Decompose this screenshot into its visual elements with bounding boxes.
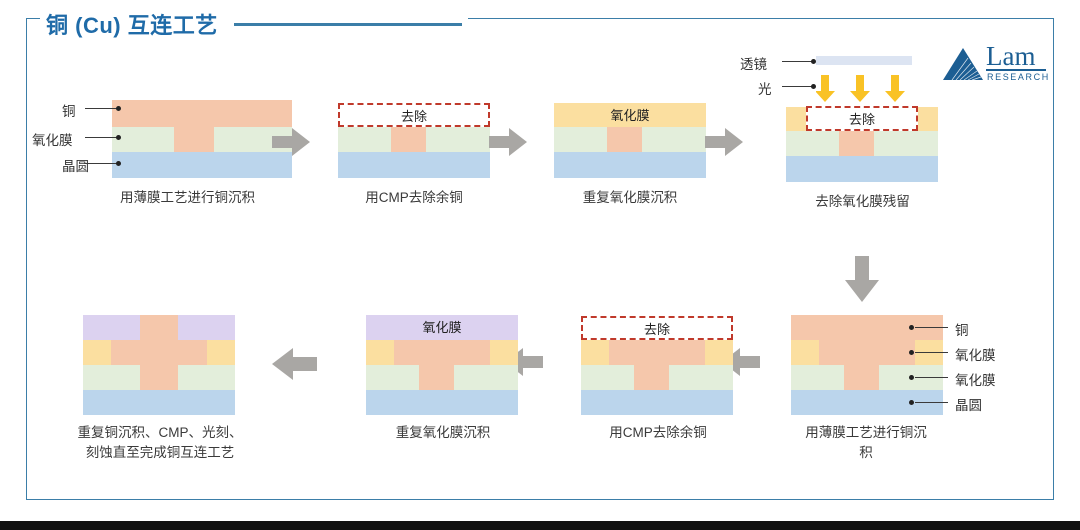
layer-oxide-green-left — [791, 365, 844, 390]
callout-line-wafer — [915, 402, 948, 403]
step-5-cu-deposition-2: 铜 氧化膜 氧化膜 晶圆 用薄膜工艺进行铜沉 积 — [775, 305, 1045, 475]
callout-dot-wafer — [116, 161, 121, 166]
step-2-stack — [338, 127, 490, 178]
step-8-caption: 重复铜沉积、CMP、光刻、 刻蚀直至完成铜互连工艺 — [51, 423, 269, 462]
layer-oxide-right — [426, 127, 490, 152]
layer-wafer — [112, 152, 292, 178]
layer-oxide-yellow-left — [581, 340, 609, 365]
bottom-black-bar — [0, 521, 1080, 530]
light-callout-line — [782, 86, 813, 87]
layer-copper-trench — [609, 340, 705, 365]
layer-oxide-yellow: 氧化膜 — [554, 103, 706, 127]
remove-region-box: 去除 — [581, 316, 733, 340]
layer-oxide-right — [642, 127, 706, 152]
layer-oxide-yellow-right — [207, 340, 235, 365]
layer-label-oxide: 氧化膜 — [554, 109, 706, 122]
callout-line-copper — [85, 108, 118, 109]
lens-bar — [816, 56, 912, 65]
layer-copper-via-top — [140, 315, 178, 340]
layer-oxide-purple-left — [83, 315, 140, 340]
layer-oxide-green-left — [83, 365, 140, 390]
callout-label-oxide-green: 氧化膜 — [955, 369, 996, 389]
layer-oxide-purple-right — [178, 315, 235, 340]
step-2-caption: 用CMP去除余铜 — [318, 188, 510, 208]
step-8-stack — [83, 315, 235, 415]
step-6-caption: 用CMP去除余铜 — [560, 423, 756, 443]
callout-dot-oxide-green — [909, 375, 914, 380]
callout-dot-oxide-yellow — [909, 350, 914, 355]
step-3-stack: 氧化膜 — [554, 103, 706, 178]
layer-copper-via — [634, 365, 669, 390]
flow-arrow-right-1 — [272, 128, 310, 156]
layer-copper-via — [391, 127, 426, 152]
layer-oxide-left — [112, 127, 174, 152]
flow-arrow-right-3 — [705, 128, 743, 156]
layer-copper — [112, 100, 292, 127]
callout-dot-wafer — [909, 400, 914, 405]
layer-wafer — [554, 152, 706, 178]
remove-region-box: 去除 — [806, 106, 918, 131]
step-7-stack: 氧化膜 — [366, 315, 518, 415]
step-6-cmp-2: 去除 用CMP去除余铜 — [560, 305, 755, 475]
callout-line-oxide-yellow — [915, 352, 948, 353]
light-ray-arrows-icon — [816, 75, 912, 103]
layer-copper-via — [174, 127, 214, 152]
title-underline-rule — [234, 23, 462, 26]
layer-oxide-green-right — [669, 365, 733, 390]
step-2-cmp: 去除 用CMP去除余铜 — [318, 95, 508, 210]
layer-oxide-green-left — [366, 365, 419, 390]
layer-oxide-yellow-left — [366, 340, 394, 365]
layer-oxide-green-right — [178, 365, 235, 390]
layer-oxide-right — [874, 131, 938, 156]
callout-dot-copper — [116, 106, 121, 111]
layer-oxide-yellow-right — [705, 340, 733, 365]
layer-label-oxide: 氧化膜 — [366, 321, 518, 334]
layer-oxide-left — [786, 131, 839, 156]
flow-arrow-left-3 — [272, 348, 317, 380]
layer-copper-trench — [394, 340, 490, 365]
step-7-oxide-redeposition-2: 氧化膜 重复氧化膜沉积 — [345, 305, 540, 475]
layer-copper-via — [419, 365, 454, 390]
step-7-caption: 重复氧化膜沉积 — [345, 423, 541, 443]
step-1-stack — [112, 100, 292, 178]
layer-copper-trench — [111, 340, 207, 365]
flow-arrow-down — [845, 256, 879, 302]
callout-dot-copper — [909, 325, 914, 330]
step-1-caption: 用薄膜工艺进行铜沉积 — [80, 188, 295, 208]
callout-label-wafer: 晶圆 — [955, 394, 982, 414]
step-5-stack — [791, 315, 943, 415]
layer-oxide-yellow-left — [83, 340, 111, 365]
layer-wafer — [581, 390, 733, 415]
slide-title-block: 铜 (Cu) 互连工艺 — [40, 8, 468, 40]
callout-line-oxide-green — [915, 377, 948, 378]
callout-label-copper: 铜 — [62, 100, 76, 120]
step-3-caption: 重复氧化膜沉积 — [534, 188, 726, 208]
layer-copper-via — [607, 127, 642, 152]
callout-dot-oxide — [116, 135, 121, 140]
layer-copper-trench — [819, 340, 915, 365]
step-4-caption: 去除氧化膜残留 — [760, 192, 965, 212]
step-8-final: 重复铜沉积、CMP、光刻、 刻蚀直至完成铜互连工艺 — [55, 305, 265, 475]
callout-line-oxide — [85, 137, 118, 138]
callout-label-copper: 铜 — [955, 319, 969, 339]
layer-oxide-left — [554, 127, 607, 152]
logo-wordmark: Lam — [986, 43, 1035, 70]
step-6-stack — [581, 340, 733, 415]
logo-subtitle: RESEARCH — [987, 72, 1050, 82]
layer-oxide-yellow-left — [791, 340, 819, 365]
layer-oxide-left — [338, 127, 391, 152]
callout-label-oxide-yellow: 氧化膜 — [955, 344, 996, 364]
lens-callout-line — [782, 61, 813, 62]
layer-oxide-green-left — [581, 365, 634, 390]
callout-line-wafer — [85, 163, 118, 164]
layer-wafer — [83, 390, 235, 415]
layer-oxide-green-right — [454, 365, 518, 390]
step-3-oxide-redeposition: 氧化膜 重复氧化膜沉积 — [534, 95, 724, 210]
layer-copper-via — [844, 365, 879, 390]
layer-wafer — [338, 152, 490, 178]
callout-label-wafer: 晶圆 — [62, 155, 89, 175]
flow-arrow-right-2 — [489, 128, 527, 156]
step-5-caption: 用薄膜工艺进行铜沉 积 — [771, 423, 961, 462]
lam-research-logo: Lam RESEARCH — [942, 46, 1048, 88]
step-4-oxide-residue-removal: 透镜 光 去除 去除氧化膜残留 — [750, 45, 950, 210]
layer-copper-via — [839, 131, 874, 156]
light-label: 光 — [758, 78, 772, 98]
callout-label-oxide: 氧化膜 — [32, 129, 73, 149]
logo-divider — [986, 69, 1046, 71]
layer-oxide-yellow-right — [490, 340, 518, 365]
remove-region-box: 去除 — [338, 103, 490, 127]
callout-line-copper — [915, 327, 948, 328]
step-1-cu-deposition: 铜 氧化膜 晶圆 用薄膜工艺进行铜沉积 — [40, 95, 290, 210]
layer-wafer — [786, 156, 938, 182]
layer-copper-via — [140, 365, 178, 390]
page-title: 铜 (Cu) 互连工艺 — [46, 8, 218, 40]
lens-label: 透镜 — [740, 53, 767, 73]
layer-wafer — [366, 390, 518, 415]
layer-oxide-purple: 氧化膜 — [366, 315, 518, 340]
